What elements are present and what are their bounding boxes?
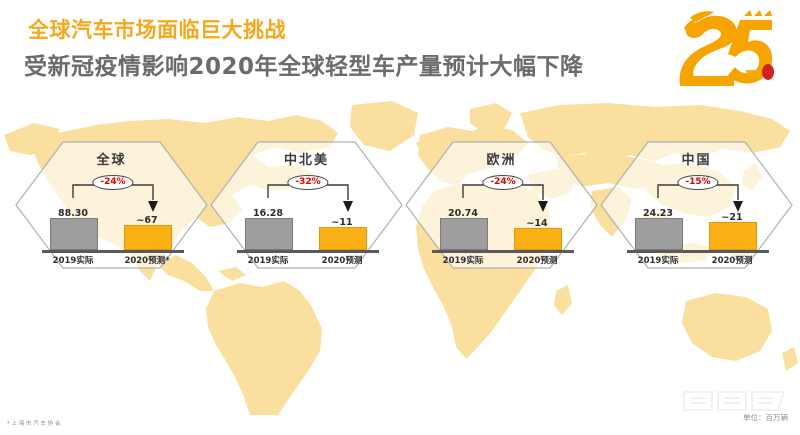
category-label-actual: 2019实际 [235, 254, 301, 266]
panel-global[interactable]: 全球 -24% 88.30 ~67 [14, 140, 209, 270]
chart-north-america: -32% 16.28 ~11 2019实际 2020预测 [235, 174, 381, 268]
category-labels: 2019实际 2020预测 [430, 254, 576, 270]
axis-baseline [627, 250, 769, 253]
panel-north-america[interactable]: 中北美 -32% 16.28 ~11 [209, 140, 404, 270]
change-percent-badge: -24% [482, 175, 523, 190]
category-label-forecast: 2020预测 [699, 254, 765, 266]
category-label-actual: 2019实际 [625, 254, 691, 266]
bar-rect-actual [245, 218, 293, 250]
chart-europe: -24% 20.74 ~14 2019实际 2020预测 [430, 174, 576, 268]
change-percent-badge: -24% [92, 175, 133, 190]
chart-china: -15% 24.23 ~21 2019实际 2020预测 [625, 174, 771, 268]
bar-group: 24.23 ~21 [625, 192, 771, 250]
category-label-forecast: 2020预测 [504, 254, 570, 266]
page-subtitle: 受新冠疫情影响2020年全球轻型车产量预计大幅下降 [24, 47, 584, 81]
source-footnote: * 上 海 市 汽 车 协 会 [7, 419, 61, 427]
chart-global: -24% 88.30 ~67 2019实际 2020预测* [40, 174, 186, 268]
panel-china[interactable]: 中国 -15% 24.23 ~21 [599, 140, 794, 270]
category-label-actual: 2019实际 [430, 254, 496, 266]
axis-baseline [432, 250, 574, 253]
change-percent-badge: -15% [677, 175, 718, 190]
category-labels: 2019实际 2020预测 [625, 254, 771, 270]
page-title: 全球汽车市场面临巨大挑战 [28, 14, 286, 44]
site-watermark [678, 388, 790, 414]
axis-baseline [237, 250, 379, 253]
panel-title-global: 全球 [14, 149, 209, 168]
category-label-forecast: 2020预测* [114, 254, 180, 266]
category-labels: 2019实际 2020预测 [235, 254, 381, 270]
bar-rect-forecast [319, 227, 367, 250]
panel-title-north-america: 中北美 [209, 149, 404, 168]
category-label-forecast: 2020预测 [309, 254, 375, 266]
bar-rect-actual [50, 218, 98, 250]
axis-baseline [42, 250, 184, 253]
bar-rect-forecast [514, 228, 562, 250]
category-label-actual: 2019实际 [40, 254, 106, 266]
bar-rect-forecast [709, 222, 757, 250]
category-labels: 2019实际 2020预测* [40, 254, 186, 270]
bar-rect-actual [635, 218, 683, 250]
bar-group: 88.30 ~67 [40, 192, 186, 250]
change-percent-badge: -32% [287, 175, 328, 190]
anniversary-25-logo [660, 8, 778, 96]
bar-group: 20.74 ~14 [430, 192, 576, 250]
bar-rect-forecast [124, 225, 172, 250]
panel-europe[interactable]: 欧洲 -24% 20.74 ~14 [404, 140, 599, 270]
slide-canvas: 全球汽车市场面临巨大挑战 受新冠疫情影响2020年全球轻型车产量预计大幅下降 [0, 0, 800, 435]
bar-group: 16.28 ~11 [235, 192, 381, 250]
unit-note: 单位：百万辆 [743, 412, 788, 423]
panel-title-china: 中国 [599, 149, 794, 168]
panel-title-europe: 欧洲 [404, 149, 599, 168]
bar-rect-actual [440, 218, 488, 250]
